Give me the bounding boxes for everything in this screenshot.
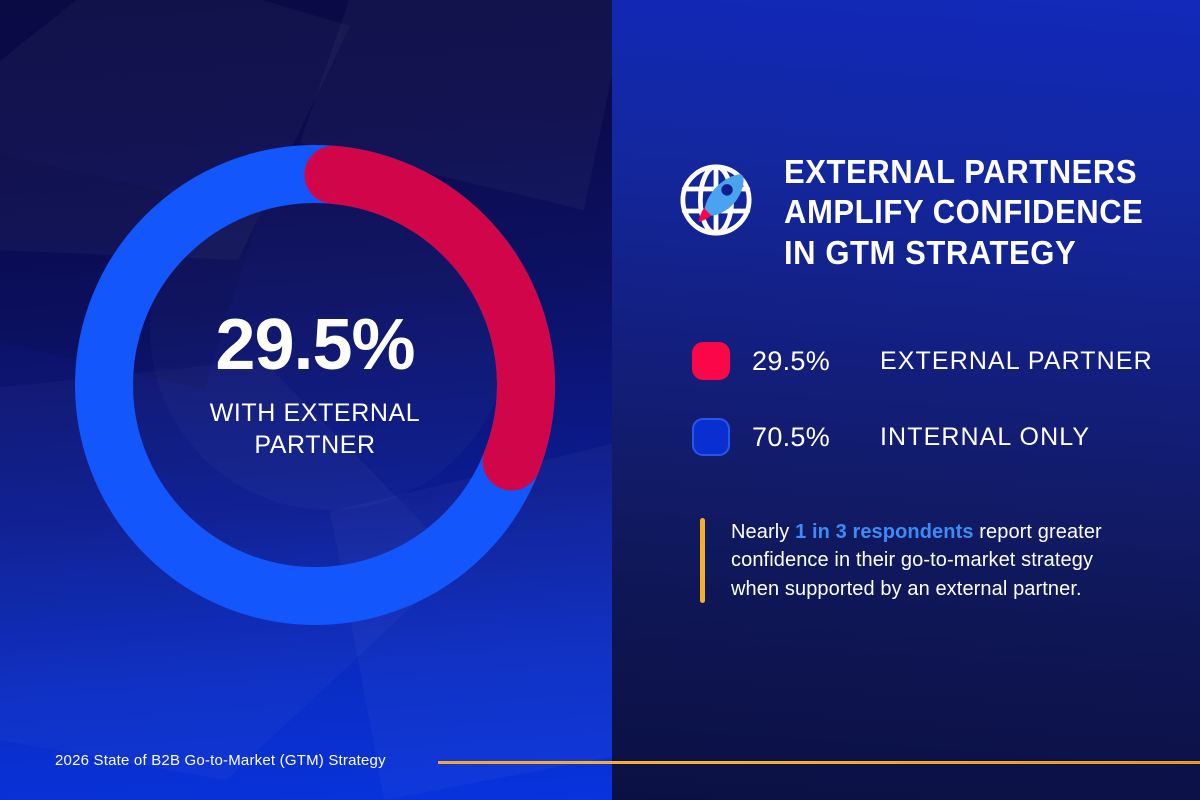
callout-text: Nearly 1 in 3 respondents report greater… <box>731 518 1120 603</box>
legend: 29.5% EXTERNAL PARTNER 70.5% INTERNAL ON… <box>692 338 1153 490</box>
callout-highlight: 1 in 3 respondents <box>795 521 974 543</box>
right-panel: EXTERNAL PARTNERS AMPLIFY CONFIDENCE IN … <box>612 0 1200 800</box>
rocket-window <box>721 184 732 195</box>
legend-item-external-partner[interactable]: 29.5% EXTERNAL PARTNER <box>692 338 1153 384</box>
legend-label: EXTERNAL PARTNER <box>880 347 1153 376</box>
left-panel: 29.5% WITH EXTERNAL PARTNER 2026 State o… <box>0 0 612 800</box>
legend-percent: 29.5% <box>752 346 880 377</box>
legend-label: INTERNAL ONLY <box>880 423 1090 452</box>
legend-swatch-icon <box>692 418 730 456</box>
callout-accent-bar <box>700 518 705 603</box>
footer-divider <box>438 761 1200 764</box>
page-title: EXTERNAL PARTNERS AMPLIFY CONFIDENCE IN … <box>784 152 1143 273</box>
callout-block: Nearly 1 in 3 respondents report greater… <box>700 518 1120 603</box>
donut-svg <box>75 145 555 625</box>
legend-percent: 70.5% <box>752 422 880 453</box>
callout-lead: Nearly <box>731 521 795 543</box>
globe-rocket-icon <box>670 154 762 246</box>
donut-chart <box>75 145 555 625</box>
legend-swatch-icon <box>692 342 730 380</box>
header-block: EXTERNAL PARTNERS AMPLIFY CONFIDENCE IN … <box>670 152 1170 273</box>
infographic-canvas: 29.5% WITH EXTERNAL PARTNER 2026 State o… <box>0 0 1200 800</box>
footer-source: 2026 State of B2B Go-to-Market (GTM) Str… <box>55 752 386 769</box>
legend-item-internal-only[interactable]: 70.5% INTERNAL ONLY <box>692 414 1153 460</box>
